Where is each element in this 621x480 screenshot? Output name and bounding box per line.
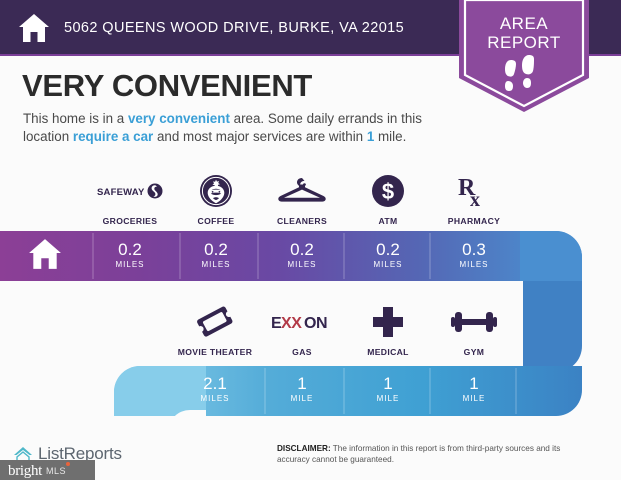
header-content: 5062 QUEENS WOOD DRIVE, BURKE, VA 22015 <box>0 0 404 56</box>
area-report-page: 5062 QUEENS WOOD DRIVE, BURKE, VA 22015 … <box>0 0 621 480</box>
category-movie-theater[interactable]: MOVIE THEATER <box>171 303 259 357</box>
distance-unit: MILE <box>430 394 518 403</box>
distance-unit: MILES <box>172 260 260 269</box>
hanger-icon <box>258 172 346 210</box>
distance-unit: MILE <box>344 394 432 403</box>
distance-unit: MILE <box>258 394 346 403</box>
starbucks-logo-icon <box>172 172 260 210</box>
dollar-circle-icon: $ <box>344 172 432 210</box>
page-description: This home is in a very convenient area. … <box>23 110 448 145</box>
category-label: MOVIE THEATER <box>171 347 259 357</box>
distance-movie-theater: 2.1 MILES <box>171 375 259 403</box>
svg-text:$: $ <box>382 179 394 204</box>
distance-pharmacy: 0.3 MILES <box>430 241 518 269</box>
distance-unit: MILES <box>86 260 174 269</box>
category-label: GAS <box>258 347 346 357</box>
disclaimer-label: DISCLAIMER: <box>277 444 331 453</box>
distance-value: 0.2 <box>258 241 346 259</box>
distance-value: 1 <box>344 375 432 393</box>
category-label: GROCERIES <box>86 216 174 226</box>
distance-unit: MILES <box>258 260 346 269</box>
page-title: VERY CONVENIENT <box>22 68 312 104</box>
distance-medical: 1 MILE <box>344 375 432 403</box>
bright-wordmark: bright <box>8 463 42 480</box>
category-label: GYM <box>430 347 518 357</box>
bar-connector-right <box>523 281 582 372</box>
svg-text:SAFEWAY: SAFEWAY <box>97 187 145 198</box>
distance-coffee: 0.2 MILES <box>172 241 260 269</box>
distance-unit: MILES <box>171 394 259 403</box>
category-label: PHARMACY <box>430 216 518 226</box>
desc-highlight-convenience: very convenient <box>128 111 230 126</box>
category-label: MEDICAL <box>344 347 432 357</box>
category-groceries[interactable]: SAFEWAY GROCERIES <box>86 172 174 226</box>
category-label: COFFEE <box>172 216 260 226</box>
dumbbell-icon <box>430 303 518 341</box>
desc-part-4: mile. <box>374 129 406 144</box>
category-label: CLEANERS <box>258 216 346 226</box>
distance-gym: 1 MILE <box>430 375 518 403</box>
distance-gas: 1 MILE <box>258 375 346 403</box>
medical-cross-icon <box>344 303 432 341</box>
distance-unit: MILES <box>344 260 432 269</box>
distance-atm: 0.2 MILES <box>344 241 432 269</box>
disclaimer: DISCLAIMER: The information in this repo… <box>277 443 595 465</box>
desc-part-3: and most major services are within <box>153 129 367 144</box>
mls-suffix: MLS <box>46 466 66 476</box>
safeway-logo-icon: SAFEWAY <box>86 172 174 210</box>
property-address: 5062 QUEENS WOOD DRIVE, BURKE, VA 22015 <box>64 20 404 36</box>
distance-value: 1 <box>430 375 518 393</box>
category-gym[interactable]: GYM <box>430 303 518 357</box>
category-cleaners[interactable]: CLEANERS <box>258 172 346 226</box>
desc-highlight-car: require a car <box>73 129 153 144</box>
category-coffee[interactable]: COFFEE <box>172 172 260 226</box>
distance-value: 0.3 <box>430 241 518 259</box>
category-gas[interactable]: E XX ON GAS <box>258 303 346 357</box>
svg-text:XX: XX <box>281 315 302 332</box>
home-icon <box>18 13 50 43</box>
distance-value: 0.2 <box>344 241 432 259</box>
bar-home-icon <box>28 238 62 270</box>
bright-mls-logo[interactable]: bright MLS <box>0 460 95 480</box>
distance-value: 0.2 <box>86 241 174 259</box>
category-medical[interactable]: MEDICAL <box>344 303 432 357</box>
distance-cleaners: 0.2 MILES <box>258 241 346 269</box>
distance-value: 1 <box>258 375 346 393</box>
distance-unit: MILES <box>430 260 518 269</box>
category-label: ATM <box>344 216 432 226</box>
exxon-logo-icon: E XX ON <box>258 303 346 341</box>
rx-icon: R x <box>430 172 518 210</box>
area-report-badge: AREA REPORT <box>459 0 589 112</box>
desc-part-1: This home is in a <box>23 111 128 126</box>
category-atm[interactable]: $ ATM <box>344 172 432 226</box>
ticket-icon <box>171 303 259 341</box>
bright-dot-icon <box>66 462 70 466</box>
distance-groceries: 0.2 MILES <box>86 241 174 269</box>
svg-text:x: x <box>470 189 480 209</box>
svg-text:ON: ON <box>304 315 327 332</box>
category-pharmacy[interactable]: R x PHARMACY <box>430 172 518 226</box>
distance-value: 0.2 <box>172 241 260 259</box>
distance-value: 2.1 <box>171 375 259 393</box>
